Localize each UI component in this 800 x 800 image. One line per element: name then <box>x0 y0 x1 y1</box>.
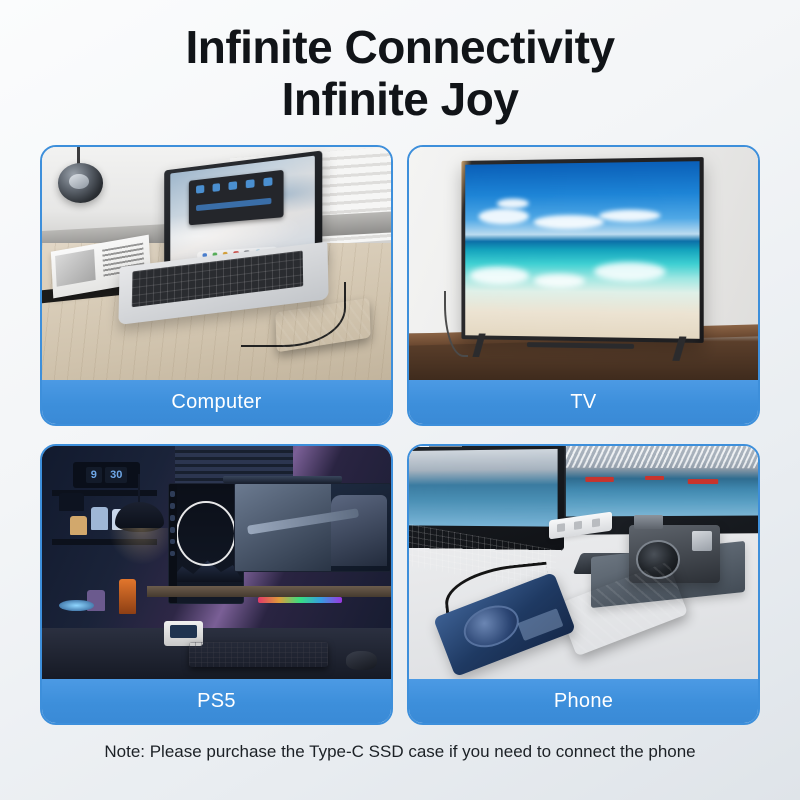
arc-graphic <box>176 501 236 567</box>
shelf-figurine <box>59 493 83 512</box>
lamp-glow <box>108 528 174 565</box>
file-icon <box>246 179 255 188</box>
card-label-phone: Phone <box>409 679 758 723</box>
mechanical-keyboard <box>189 642 329 668</box>
device-card-phone[interactable]: Phone <box>407 444 760 725</box>
surf-foam <box>470 267 529 284</box>
rgb-light-strip <box>258 597 342 603</box>
game-character <box>331 495 387 566</box>
phone-camera-module-icon <box>458 598 525 655</box>
selected-file-row <box>196 197 272 210</box>
page-title: Infinite Connectivity Infinite Joy <box>0 0 800 125</box>
snowy-mountain <box>565 446 758 469</box>
harbour-boat <box>687 479 717 485</box>
sidebar-icon <box>170 551 175 556</box>
anime-figurine <box>119 579 136 614</box>
device-card-computer[interactable]: Computer <box>40 145 393 426</box>
flip-clock-minutes: 30 <box>105 467 127 483</box>
tv-scene-image <box>409 147 758 380</box>
shelf-figurine <box>70 516 87 535</box>
gaming-mouse <box>346 651 377 670</box>
television <box>461 157 704 343</box>
camera-dial <box>692 531 712 551</box>
cloud <box>497 198 529 209</box>
page-title-line-2: Infinite Joy <box>0 74 800 126</box>
sidebar-icon <box>170 515 175 520</box>
tv-screen-beach-image <box>465 161 700 338</box>
globe-lamp-icon <box>58 163 103 203</box>
shelf-figurine <box>91 507 108 530</box>
camera-viewfinder <box>634 515 663 529</box>
card-label-tv: TV <box>409 380 758 424</box>
cloud <box>599 209 661 222</box>
desk-riser-shelf <box>147 586 391 598</box>
card-label-ps5: PS5 <box>42 679 391 723</box>
phone-back-label <box>518 608 563 640</box>
harbour-boat <box>644 476 663 480</box>
sidebar-icon <box>170 527 175 532</box>
monitor-harbour-image <box>565 446 758 517</box>
harbour-boat <box>585 477 613 482</box>
tv-bezel <box>461 157 704 343</box>
sidebar-icon <box>170 491 175 496</box>
power-socket <box>574 520 582 529</box>
file-icon <box>196 185 204 194</box>
surf-foam <box>594 262 666 282</box>
surf-foam <box>533 274 584 288</box>
cloud <box>479 208 529 224</box>
footer-note: Note: Please purchase the Type-C SSD cas… <box>0 742 800 762</box>
laptop-harbour-image <box>409 449 558 527</box>
monitor-light-bar <box>223 476 342 483</box>
power-socket <box>556 523 564 532</box>
file-icon <box>229 181 238 190</box>
computer-scene-image <box>42 147 391 380</box>
page-title-line-1: Infinite Connectivity <box>0 22 800 74</box>
flip-clock: 9 30 <box>73 462 139 488</box>
ps5-scene-image: 9 30 <box>42 446 391 679</box>
power-socket <box>591 518 599 527</box>
device-card-tv[interactable]: TV <box>407 145 760 426</box>
device-card-ps5[interactable]: 9 30 <box>40 444 393 725</box>
file-icon <box>264 177 273 186</box>
phone-scene-image <box>409 446 758 679</box>
card-label-computer: Computer <box>42 380 391 424</box>
device-card-grid: Computer <box>40 145 760 725</box>
cloud <box>533 215 603 229</box>
file-icon <box>212 183 220 192</box>
gaming-monitor <box>234 483 391 572</box>
sidebar-icon <box>170 539 175 544</box>
flip-clock-hours: 9 <box>86 467 102 483</box>
sidebar-icon <box>170 503 175 508</box>
